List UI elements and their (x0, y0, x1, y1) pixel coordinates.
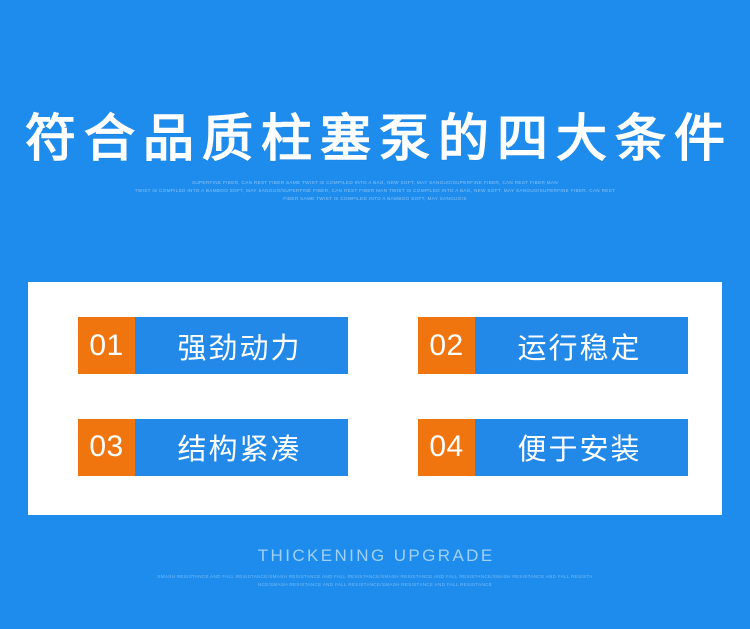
promo-banner: 符合品质柱塞泵的四大条件 SUPERFINE FIBER, CAN REST F… (0, 0, 750, 629)
feature-label: 运行稳定 (515, 325, 641, 367)
feature-label-bar: 便于安装 (475, 419, 688, 476)
footer-line: NCE/SMASH RESISTANCE AND FALL RESISTANCE… (0, 581, 750, 590)
feature-card: 01 强劲动力 02 运行稳定 03 结构紧凑 04 便 (28, 282, 722, 515)
feature-label: 结构紧凑 (175, 426, 301, 468)
feature-label-bar: 结构紧凑 (135, 419, 348, 476)
feature-label-bar: 运行稳定 (475, 317, 688, 374)
footer-fineprint: SMASH RESISTANCE AND FALL RESISTANCE/SMA… (0, 573, 750, 590)
feature-number-badge: 03 (78, 419, 135, 476)
feature-number-badge: 02 (418, 317, 475, 374)
feature-number-badge: 01 (78, 317, 135, 374)
footer-block: THICKENING UPGRADE SMASH RESISTANCE AND … (0, 545, 750, 590)
feature-label: 强劲动力 (175, 325, 301, 367)
footer-heading: THICKENING UPGRADE (0, 545, 750, 567)
feature-grid: 01 强劲动力 02 运行稳定 03 结构紧凑 04 便 (28, 282, 722, 515)
feature-item: 02 运行稳定 (418, 317, 688, 374)
feature-label: 便于安装 (515, 426, 641, 468)
feature-label-bar: 强劲动力 (135, 317, 348, 374)
feature-item: 01 强劲动力 (78, 317, 348, 374)
page-title: 符合品质柱塞泵的四大条件 (0, 108, 750, 170)
subtitle-text: SUPERFINE FIBER, CAN REST FIBER SAME TWI… (0, 179, 750, 204)
feature-item: 04 便于安装 (418, 419, 688, 476)
subtitle-line: FIBER SAME TWIST IS COMPILED INTO A BAMB… (0, 195, 750, 204)
feature-number-badge: 04 (418, 419, 475, 476)
title-block: 符合品质柱塞泵的四大条件 SUPERFINE FIBER, CAN REST F… (0, 108, 750, 204)
feature-item: 03 结构紧凑 (78, 419, 348, 476)
